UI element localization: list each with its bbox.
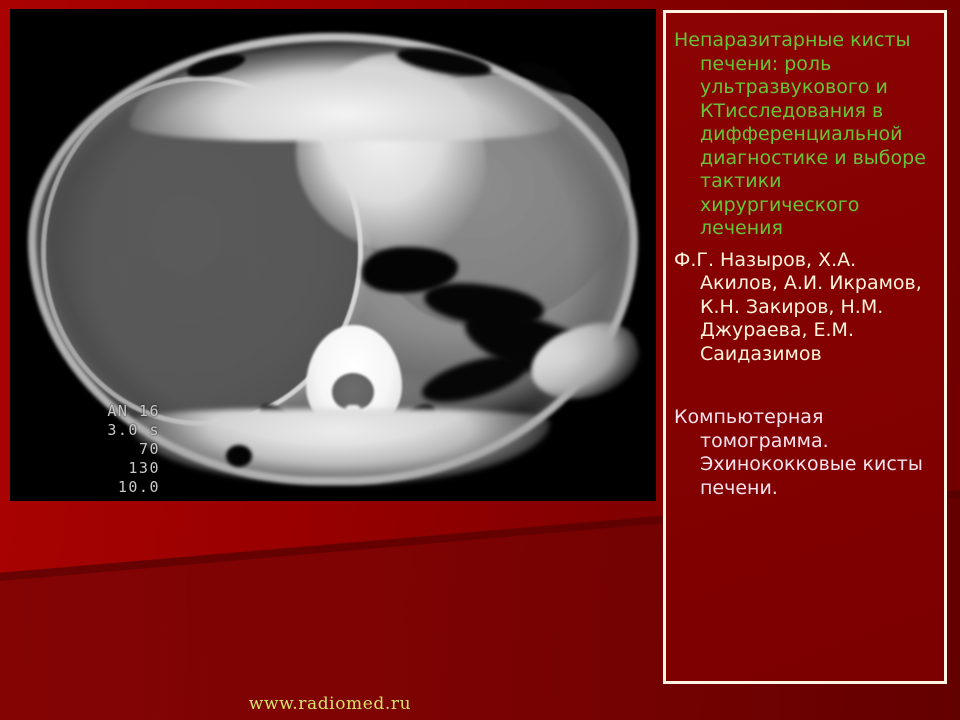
text-panel: Непаразитарные кисты печени: роль ультра… [663, 10, 947, 684]
site-watermark: www.radiomed.ru [0, 694, 660, 714]
ct-posterior-air-pocket [226, 445, 252, 467]
figure-caption: Компьютерная томограмма. Эхинококковые к… [674, 406, 935, 500]
presentation-slide: AN 16 3.0 s 70 130 10.0 Непаразитарные к… [0, 0, 960, 720]
presentation-title: Непаразитарные кисты печени: роль ультра… [674, 29, 935, 241]
ct-render-stage [10, 9, 656, 501]
ct-scan-image: AN 16 3.0 s 70 130 10.0 [10, 9, 656, 501]
authors-list: Ф.Г. Назыров, Х.А. Акилов, А.И. Икрамов,… [674, 249, 935, 367]
ct-posterior-body-wall [130, 409, 550, 485]
